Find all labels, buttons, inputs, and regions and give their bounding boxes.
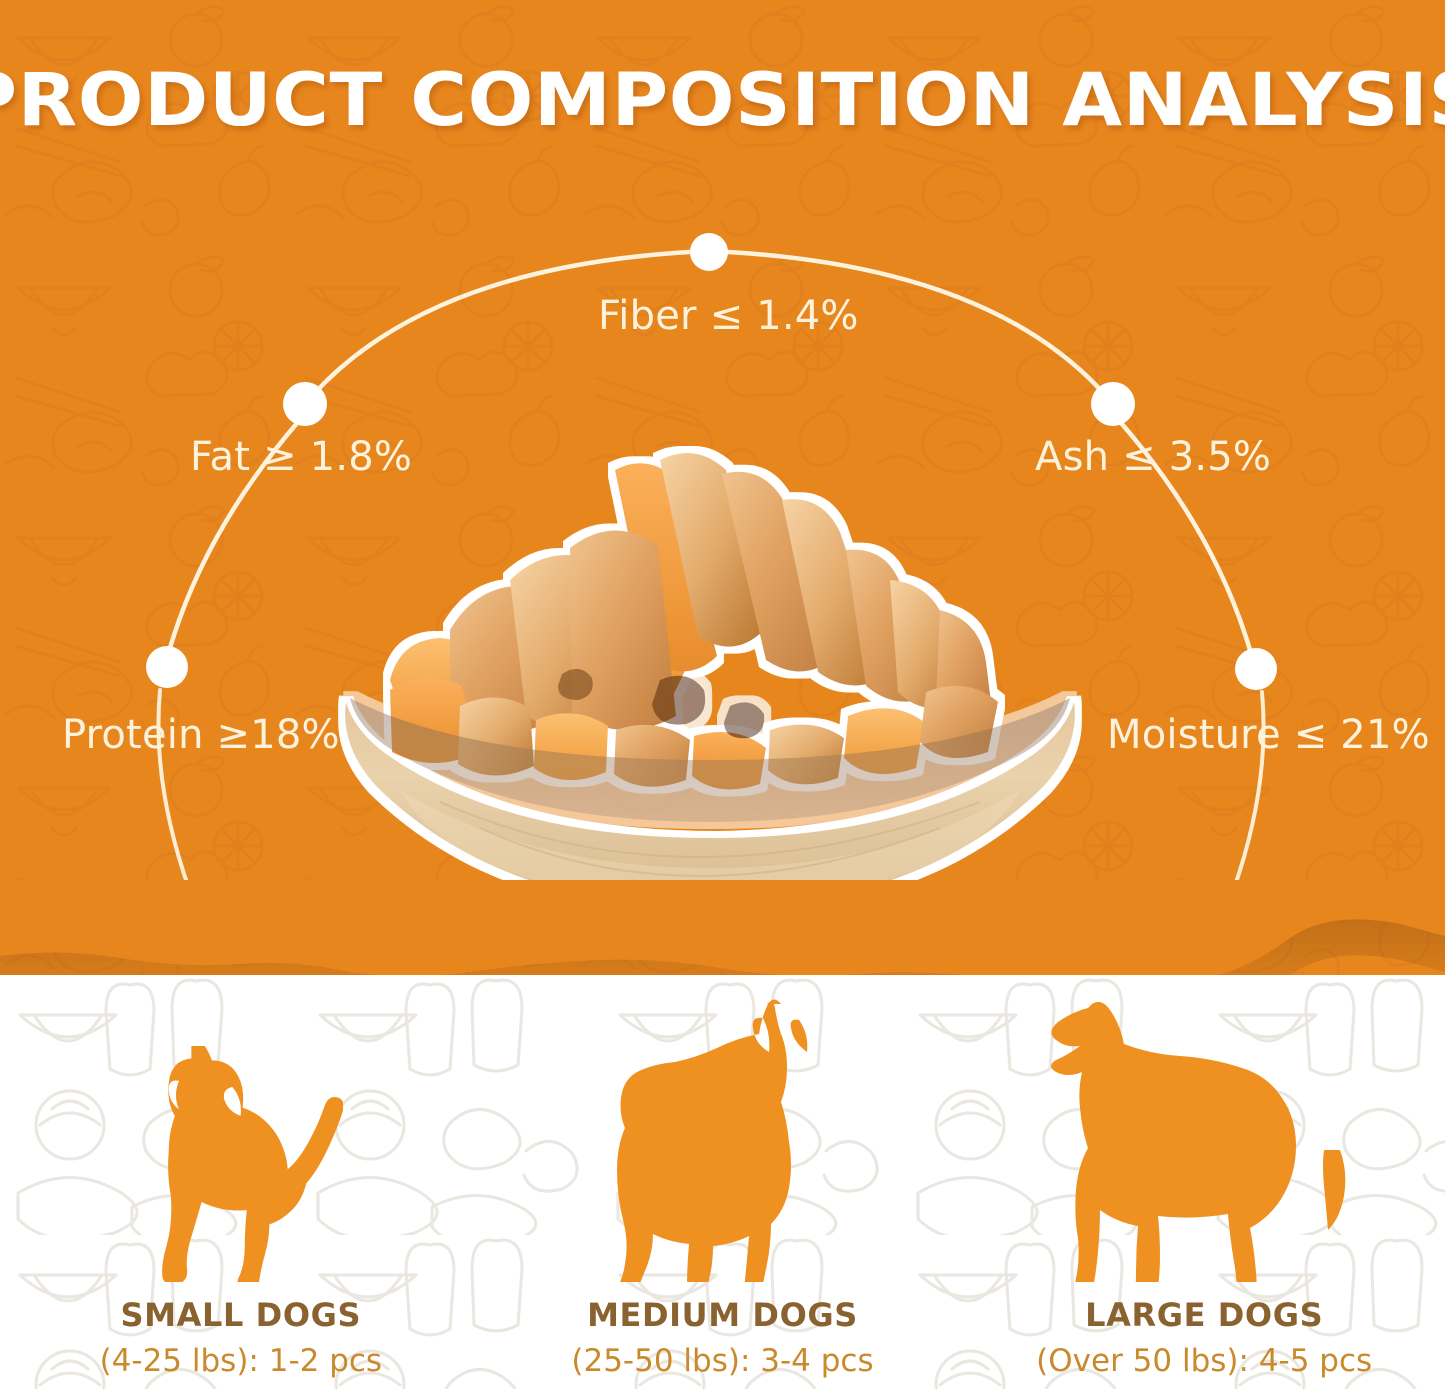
node-fiber: [690, 233, 728, 271]
orange-background-panel: Fiber ≤ 1.4% Fat ≥ 1.8% Ash ≤ 3.5% Prote…: [0, 0, 1445, 975]
node-moisture: [1235, 648, 1277, 690]
feeding-guide-item-large: LARGE DOGS (Over 50 lbs): 4-5 pcs: [963, 975, 1445, 1389]
size-detail-large: (Over 50 lbs): 4-5 pcs: [1036, 1343, 1372, 1379]
node-ash: [1091, 382, 1135, 426]
size-detail-small: (4-25 lbs): 1-2 pcs: [100, 1343, 383, 1379]
feeding-guide-item-small: SMALL DOGS (4-25 lbs): 1-2 pcs: [0, 975, 482, 1389]
composition-label-fiber: Fiber ≤ 1.4%: [598, 293, 859, 339]
composition-label-moisture: Moisture ≤ 21%: [1107, 712, 1430, 758]
product-composition-poster: Fiber ≤ 1.4% Fat ≥ 1.8% Ash ≤ 3.5% Prote…: [0, 0, 1445, 1389]
size-title-small: SMALL DOGS: [121, 1296, 362, 1334]
large-dog-silhouette-icon: [1044, 982, 1364, 1282]
medium-dog-silhouette-icon: [613, 990, 833, 1282]
product-photo-treat-bowl: [330, 430, 1090, 880]
node-protein: [146, 646, 188, 688]
size-detail-medium: (25-50 lbs): 3-4 pcs: [571, 1343, 873, 1379]
feeding-guide-panel: SMALL DOGS (4-25 lbs): 1-2 pcs MEDIUM DO…: [0, 975, 1445, 1389]
composition-label-protein: Protein ≥18%: [62, 712, 340, 758]
size-title-medium: MEDIUM DOGS: [587, 1296, 858, 1334]
page-title: PRODUCT COMPOSITION ANALYSIS: [0, 64, 1445, 137]
feeding-guide-item-medium: MEDIUM DOGS (25-50 lbs): 3-4 pcs: [482, 975, 964, 1389]
node-fat: [283, 382, 327, 426]
feeding-guide-row: SMALL DOGS (4-25 lbs): 1-2 pcs MEDIUM DO…: [0, 975, 1445, 1389]
small-dog-silhouette-icon: [138, 1046, 343, 1282]
size-title-large: LARGE DOGS: [1085, 1296, 1323, 1334]
